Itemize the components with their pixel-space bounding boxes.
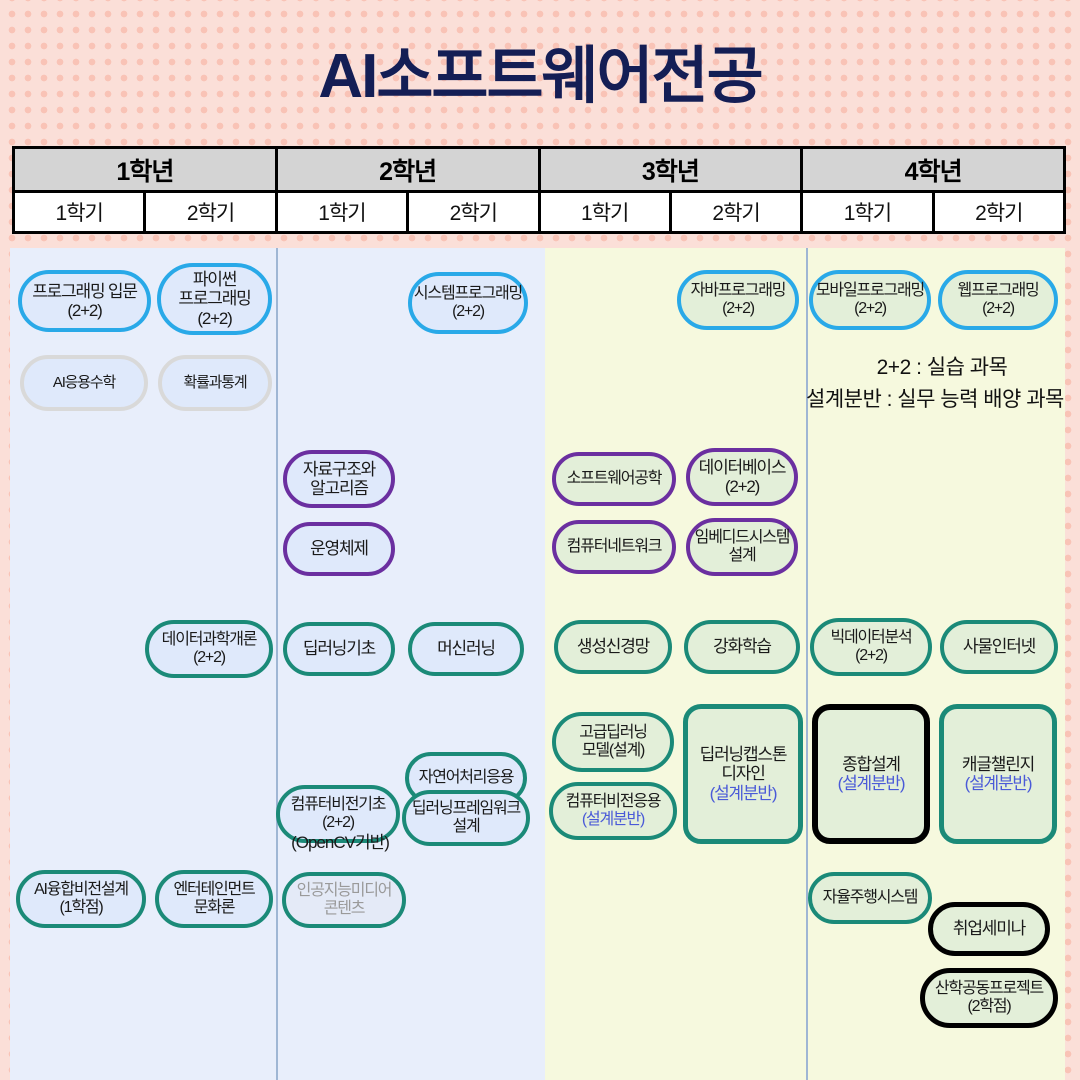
course-name: 자율주행시스템 [823, 889, 918, 907]
course-reinforcement-learning[interactable]: 강화학습 [684, 620, 800, 674]
course-name-2: 알고리즘 [310, 479, 368, 498]
semester-cell-y4s2: 2학기 [935, 193, 1063, 231]
semester-cell-y3s1: 1학기 [541, 193, 672, 231]
semester-cell-y1s1: 1학기 [15, 193, 146, 231]
course-design-label: (설계분반) [582, 811, 644, 829]
course-deep-learning-capstone-design[interactable]: 딥러닝캡스톤 디자인 (설계분반) [683, 704, 803, 844]
course-ai-media-contents[interactable]: 인공지능미디어 콘텐츠 [282, 872, 406, 928]
year-label-4: 4학년 [803, 149, 1063, 193]
course-probability-statistics[interactable]: 확률과통계 [158, 355, 272, 411]
course-credit: (2+2) [855, 647, 887, 665]
course-design-label: (설계분반) [710, 784, 777, 803]
course-name: 운영체제 [310, 539, 368, 558]
course-credit: (2+2) [722, 300, 754, 318]
course-advanced-deep-learning-model[interactable]: 고급딥러닝 모델(설계) [552, 712, 674, 772]
course-computer-vision-application[interactable]: 컴퓨터비전응용 (설계분반) [549, 782, 677, 840]
course-deep-learning-framework-design[interactable]: 딥러닝프레임워크 설계 [402, 790, 530, 846]
course-python-programming[interactable]: 파이썬 프로그래밍 (2+2) [157, 263, 272, 335]
course-credit: (2+2) [452, 303, 484, 321]
course-name-2: 프로그래밍 [178, 289, 250, 308]
course-name: 강화학습 [713, 637, 771, 656]
year-column-3: 3학년 1학기 2학기 [541, 149, 804, 231]
course-name-2: 디자인 [721, 764, 764, 783]
course-embedded-system-design[interactable]: 임베디드시스템 설계 [686, 518, 798, 576]
course-machine-learning[interactable]: 머신러닝 [408, 622, 524, 676]
curriculum-roadmap: AI소프트웨어전공 1학년 1학기 2학기 2학년 1학기 2학기 3학년 1학… [0, 0, 1080, 1080]
year-label-3: 3학년 [541, 149, 801, 193]
course-industry-academic-project[interactable]: 산학공동프로젝트 (2학점) [920, 968, 1058, 1028]
course-name: 엔터테인먼트 [173, 881, 254, 899]
course-name-2: 콘텐츠 [324, 900, 365, 918]
course-internet-of-things[interactable]: 사물인터넷 [940, 620, 1058, 674]
course-generative-neural-network[interactable]: 생성신경망 [554, 620, 672, 674]
year-semester-header: 1학년 1학기 2학기 2학년 1학기 2학기 3학년 1학기 2학기 4학년 … [12, 146, 1066, 234]
course-name: 자연어처리응용 [419, 769, 514, 787]
course-name-2: 문화론 [194, 899, 235, 917]
course-name: 데이터과학개론 [162, 631, 257, 649]
course-name: 취업세미나 [953, 919, 1025, 938]
year-column-1: 1학년 1학기 2학기 [15, 149, 278, 231]
course-name: 머신러닝 [437, 639, 495, 658]
course-name-2: 설계 [728, 547, 755, 565]
course-name: 컴퓨터비전기초 [291, 796, 386, 814]
course-operating-systems[interactable]: 운영체제 [283, 522, 395, 576]
course-name: 모바일프로그래밍 [816, 282, 924, 300]
course-ai-convergence-vision-design[interactable]: AI융합비전설계 (1학점) [16, 870, 146, 928]
column-divider-1 [276, 248, 278, 1080]
course-name: 자료구조와 [303, 460, 375, 479]
course-career-seminar[interactable]: 취업세미나 [928, 902, 1050, 956]
course-autonomous-driving-system[interactable]: 자율주행시스템 [808, 872, 932, 924]
course-name: AI융합비전설계 [34, 881, 128, 899]
course-database[interactable]: 데이터베이스 (2+2) [686, 448, 798, 506]
course-credit: (2+2) [67, 301, 101, 320]
course-computer-networks[interactable]: 컴퓨터네트워크 [552, 520, 676, 574]
course-name-2: 모델(설계) [582, 742, 644, 760]
course-credit: (2+2) [982, 300, 1014, 318]
course-big-data-analysis[interactable]: 빅데이터분석 (2+2) [810, 618, 932, 676]
course-name: 딥러닝캡스톤 [700, 745, 787, 764]
course-name: 임베디드시스템 [695, 529, 790, 547]
course-name: AI응용수학 [53, 375, 115, 392]
course-design-label: (설계분반) [965, 774, 1032, 793]
legend-line-1: 2+2 : 실습 과목 [806, 352, 1080, 384]
course-name: 자바프로그래밍 [691, 282, 786, 300]
course-credit: (2학점) [968, 998, 1011, 1016]
year-label-1: 1학년 [15, 149, 275, 193]
year-label-2: 2학년 [278, 149, 538, 193]
course-name-2: 설계 [452, 818, 479, 836]
course-name: 파이썬 [193, 270, 236, 289]
course-name: 소프트웨어공학 [567, 470, 662, 488]
course-deep-learning-basics[interactable]: 딥러닝기초 [283, 622, 395, 676]
course-name: 사물인터넷 [963, 637, 1035, 656]
course-name: 생성신경망 [577, 637, 649, 656]
course-name: 확률과통계 [183, 375, 246, 392]
legend: 2+2 : 실습 과목 설계분반 : 실무 능력 배양 과목 [806, 352, 1080, 415]
course-web-programming[interactable]: 웹프로그래밍 (2+2) [938, 270, 1058, 330]
course-credit: (2+2) [197, 309, 231, 328]
course-comprehensive-design[interactable]: 종합설계 (설계분반) [812, 704, 930, 844]
semester-cell-y2s2: 2학기 [409, 193, 537, 231]
course-java-programming[interactable]: 자바프로그래밍 (2+2) [677, 270, 799, 330]
course-name: 딥러닝프레임워크 [412, 800, 520, 818]
course-intro-data-science[interactable]: 데이터과학개론 (2+2) [145, 620, 273, 678]
course-name: 컴퓨터네트워크 [567, 538, 662, 556]
page-title: AI소프트웨어전공 [0, 46, 1080, 108]
course-software-engineering[interactable]: 소프트웨어공학 [552, 452, 676, 506]
course-mobile-programming[interactable]: 모바일프로그래밍 (2+2) [809, 270, 931, 330]
course-name: 캐글챌린지 [962, 755, 1034, 774]
semester-cell-y3s2: 2학기 [672, 193, 800, 231]
course-ai-applied-math[interactable]: AI응용수학 [20, 355, 148, 411]
course-credit: (2+2) [854, 300, 886, 318]
semester-cell-y2s1: 1학기 [278, 193, 409, 231]
course-name: 컴퓨터비전응용 [566, 793, 661, 811]
course-name: 인공지능미디어 [297, 882, 392, 900]
course-name: 고급딥러닝 [579, 724, 647, 742]
course-credit: (2+2) [725, 477, 759, 496]
course-data-structures-algorithms[interactable]: 자료구조와 알고리즘 [283, 450, 395, 508]
course-name: 데이터베이스 [699, 458, 786, 477]
semester-cell-y4s1: 1학기 [803, 193, 934, 231]
course-caption-opencv: (OpenCV기반) [270, 828, 410, 853]
course-programming-intro[interactable]: 프로그래밍 입문 (2+2) [18, 270, 151, 332]
course-name: 시스템프로그래밍 [414, 285, 522, 303]
course-name: 웹프로그래밍 [957, 282, 1038, 300]
course-name: 딥러닝기초 [303, 639, 375, 658]
course-entertainment-culture[interactable]: 엔터테인먼트 문화론 [155, 870, 273, 928]
course-name: 산학공동프로젝트 [935, 980, 1043, 998]
legend-line-2: 설계분반 : 실무 능력 배양 과목 [806, 384, 1080, 416]
course-kaggle-challenge[interactable]: 캐글챌린지 (설계분반) [939, 704, 1057, 844]
year-column-4: 4학년 1학기 2학기 [803, 149, 1063, 231]
course-credit: (1학점) [60, 899, 103, 917]
course-name: 종합설계 [842, 755, 900, 774]
course-design-label: (설계분반) [838, 774, 905, 793]
course-name: 빅데이터분석 [830, 629, 911, 647]
year-column-2: 2학년 1학기 2학기 [278, 149, 541, 231]
course-name: 프로그래밍 입문 [32, 282, 137, 301]
semester-cell-y1s2: 2학기 [146, 193, 274, 231]
course-credit: (2+2) [193, 649, 225, 667]
course-system-programming[interactable]: 시스템프로그래밍 (2+2) [408, 272, 528, 334]
